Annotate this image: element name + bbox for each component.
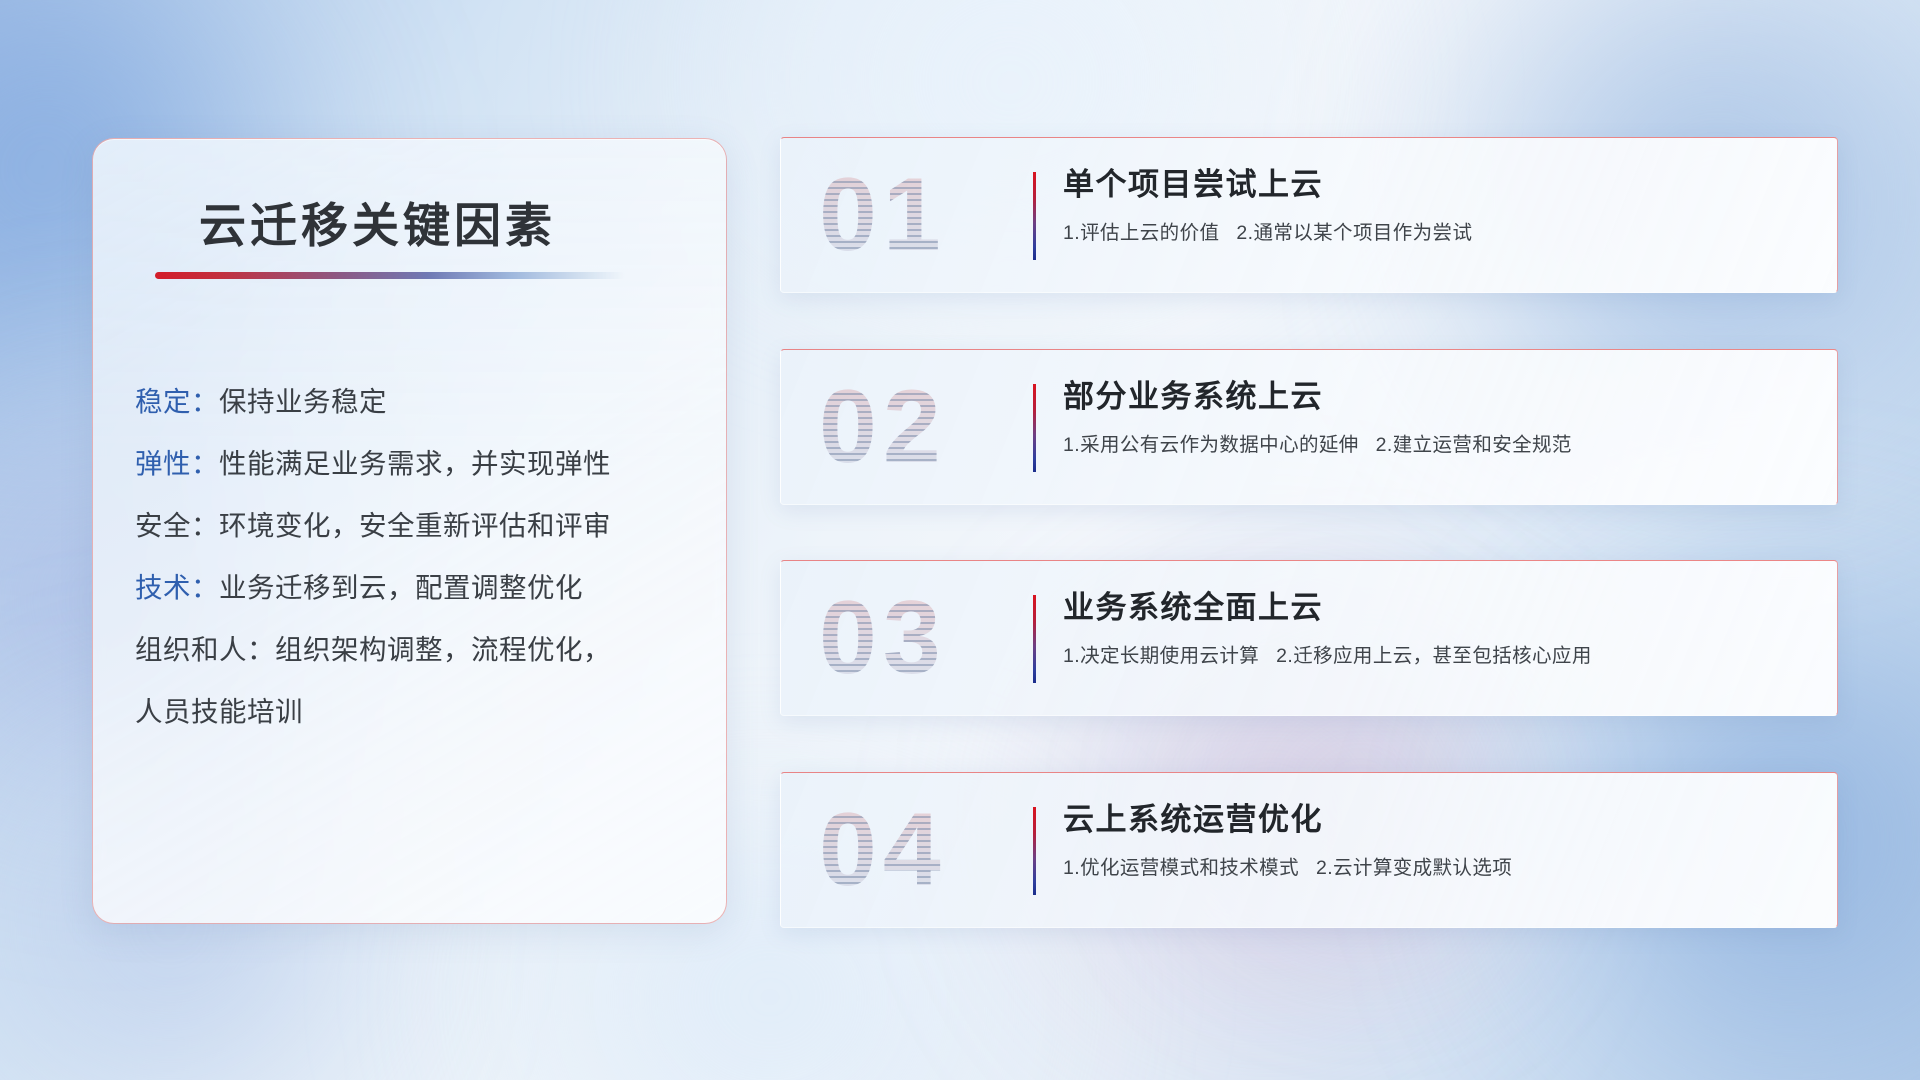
step-point-2: 2.通常以某个项目作为尝试 — [1236, 222, 1472, 244]
step-subtitle: 1.决定长期使用云计算2.迁移应用上云，甚至包括核心应用 — [1063, 639, 1813, 668]
step-card-03[interactable]: 03 业务系统全面上云 1.决定长期使用云计算2.迁移应用上云，甚至包括核心应用 — [780, 560, 1838, 716]
list-item-text: 人员技能培训 — [135, 696, 303, 727]
list-item-text: 组织架构调整，流程优化， — [275, 634, 611, 665]
step-content: 部分业务系统上云 1.采用公有云作为数据中心的延伸2.建立运营和安全规范 — [1063, 378, 1813, 457]
step-title: 部分业务系统上云 — [1063, 378, 1813, 417]
list-item-text: 性能满足业务需求，并实现弹性 — [219, 448, 611, 479]
step-number: 01 — [819, 163, 947, 267]
step-card-04[interactable]: 04 云上系统运营优化 1.优化运营模式和技术模式2.云计算变成默认选项 — [780, 772, 1838, 928]
list-item-key: 稳定： — [135, 386, 219, 417]
key-factors-list: 稳定：保持业务稳定 弹性：性能满足业务需求，并实现弹性 安全：环境变化，安全重新… — [135, 371, 700, 743]
list-item-text: 环境变化，安全重新评估和评审 — [219, 510, 611, 541]
key-factors-panel: 云迁移关键因素 稳定：保持业务稳定 弹性：性能满足业务需求，并实现弹性 安全：环… — [92, 138, 727, 924]
step-title: 业务系统全面上云 — [1063, 589, 1813, 628]
step-point-2: 2.云计算变成默认选项 — [1316, 857, 1512, 879]
list-item: 人员技能培训 — [135, 681, 700, 743]
list-item: 安全：环境变化，安全重新评估和评审 — [135, 495, 700, 557]
step-title: 云上系统运营优化 — [1063, 801, 1813, 840]
step-divider — [1033, 172, 1036, 260]
step-subtitle: 1.采用公有云作为数据中心的延伸2.建立运营和安全规范 — [1063, 428, 1813, 457]
step-point-1: 1.采用公有云作为数据中心的延伸 — [1063, 434, 1359, 456]
step-card-02[interactable]: 02 部分业务系统上云 1.采用公有云作为数据中心的延伸2.建立运营和安全规范 — [780, 349, 1838, 505]
step-number: 03 — [819, 586, 947, 690]
step-point-1: 1.评估上云的价值 — [1063, 222, 1219, 244]
list-item: 弹性：性能满足业务需求，并实现弹性 — [135, 433, 700, 495]
step-content: 单个项目尝试上云 1.评估上云的价值2.通常以某个项目作为尝试 — [1063, 166, 1813, 245]
list-item-key: 组织和人： — [135, 634, 275, 665]
step-divider — [1033, 595, 1036, 683]
step-card-01[interactable]: 01 单个项目尝试上云 1.评估上云的价值2.通常以某个项目作为尝试 — [780, 137, 1838, 293]
list-item-key: 安全： — [135, 510, 219, 541]
list-item-key: 弹性： — [135, 448, 219, 479]
step-subtitle: 1.评估上云的价值2.通常以某个项目作为尝试 — [1063, 216, 1813, 245]
step-point-2: 2.建立运营和安全规范 — [1376, 434, 1572, 456]
step-divider — [1033, 807, 1036, 895]
step-subtitle: 1.优化运营模式和技术模式2.云计算变成默认选项 — [1063, 851, 1813, 880]
list-item-text: 保持业务稳定 — [219, 386, 387, 417]
step-content: 业务系统全面上云 1.决定长期使用云计算2.迁移应用上云，甚至包括核心应用 — [1063, 589, 1813, 668]
step-point-1: 1.优化运营模式和技术模式 — [1063, 857, 1299, 879]
list-item: 组织和人：组织架构调整，流程优化， — [135, 619, 700, 681]
step-divider — [1033, 384, 1036, 472]
step-title: 单个项目尝试上云 — [1063, 166, 1813, 205]
list-item-text: 业务迁移到云，配置调整优化 — [219, 572, 583, 603]
step-content: 云上系统运营优化 1.优化运营模式和技术模式2.云计算变成默认选项 — [1063, 801, 1813, 880]
step-number: 02 — [819, 375, 947, 479]
step-number: 04 — [819, 798, 947, 902]
step-point-2: 2.迁移应用上云，甚至包括核心应用 — [1276, 645, 1592, 667]
title-underline-accent — [155, 272, 625, 279]
list-item: 稳定：保持业务稳定 — [135, 371, 700, 433]
page-title: 云迁移关键因素 — [199, 187, 556, 256]
step-point-1: 1.决定长期使用云计算 — [1063, 645, 1259, 667]
list-item-key: 技术： — [135, 572, 219, 603]
list-item: 技术：业务迁移到云，配置调整优化 — [135, 557, 700, 619]
